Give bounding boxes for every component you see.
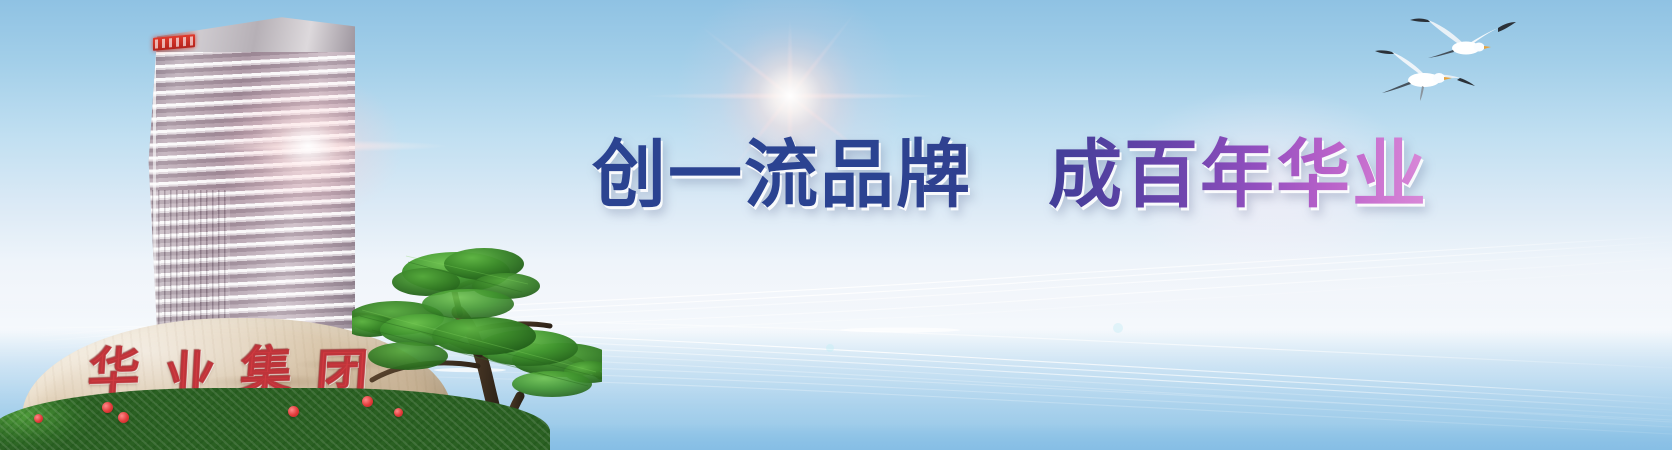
hedge-flower bbox=[34, 414, 43, 423]
seagull-lower bbox=[1375, 50, 1475, 101]
hedge-leaf-texture bbox=[0, 388, 550, 450]
building-edge-highlight bbox=[153, 33, 156, 334]
hedge-flower bbox=[394, 408, 403, 417]
hedge-flower bbox=[362, 396, 373, 407]
high-rise-building bbox=[140, 14, 355, 334]
hedge-flower bbox=[118, 412, 129, 423]
seagulls-group bbox=[1370, 8, 1555, 120]
company-hero-banner: 华 业 集 团 bbox=[0, 0, 1672, 450]
banner-headline: 创一流品牌 成百年华业 bbox=[592, 132, 1428, 218]
building-lens-streak bbox=[168, 140, 448, 152]
hedge-flower bbox=[288, 406, 299, 417]
seagull-upper bbox=[1410, 19, 1516, 59]
green-hedge bbox=[0, 388, 550, 450]
hedge-flower bbox=[102, 402, 113, 413]
